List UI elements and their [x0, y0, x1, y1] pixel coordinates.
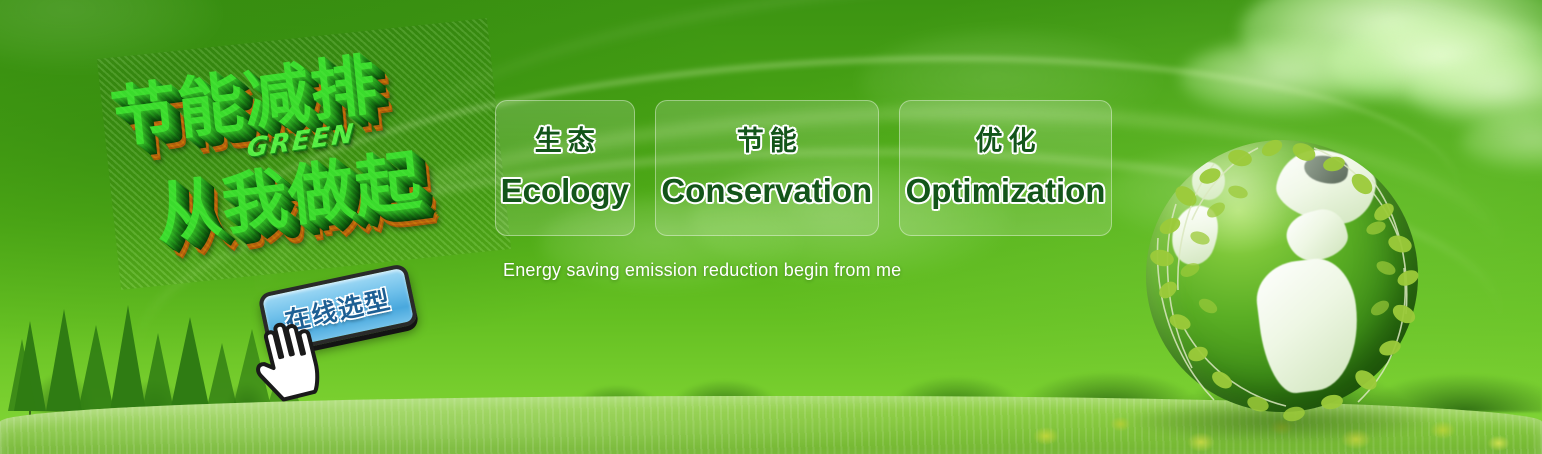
card-title-en: Optimization — [906, 173, 1106, 209]
card-title-en: Ecology — [501, 173, 629, 209]
feature-card-optimization[interactable]: 优化 Optimization — [899, 100, 1112, 236]
card-title-en: Conservation — [661, 173, 872, 209]
feature-cards: 生态 Ecology 节能 Conservation 优化 Optimizati… — [495, 100, 1112, 236]
headline-3d-art: 节能减排 GREEN 从我做起 — [97, 18, 511, 290]
card-title-cn: 优化 — [970, 127, 1042, 157]
green-energy-banner: 节能减排 GREEN 从我做起 在线选型 生态 Ecology 节能 Conse… — [0, 0, 1542, 454]
feature-card-conservation[interactable]: 节能 Conservation — [655, 100, 880, 236]
card-title-cn: 节能 — [731, 127, 803, 157]
tagline-text: Energy saving emission reduction begin f… — [503, 260, 901, 281]
feature-card-ecology[interactable]: 生态 Ecology — [495, 100, 635, 236]
card-title-cn: 生态 — [529, 127, 601, 157]
vine-overlay — [1118, 118, 1438, 438]
leafy-earth-globe-icon — [1118, 118, 1438, 438]
